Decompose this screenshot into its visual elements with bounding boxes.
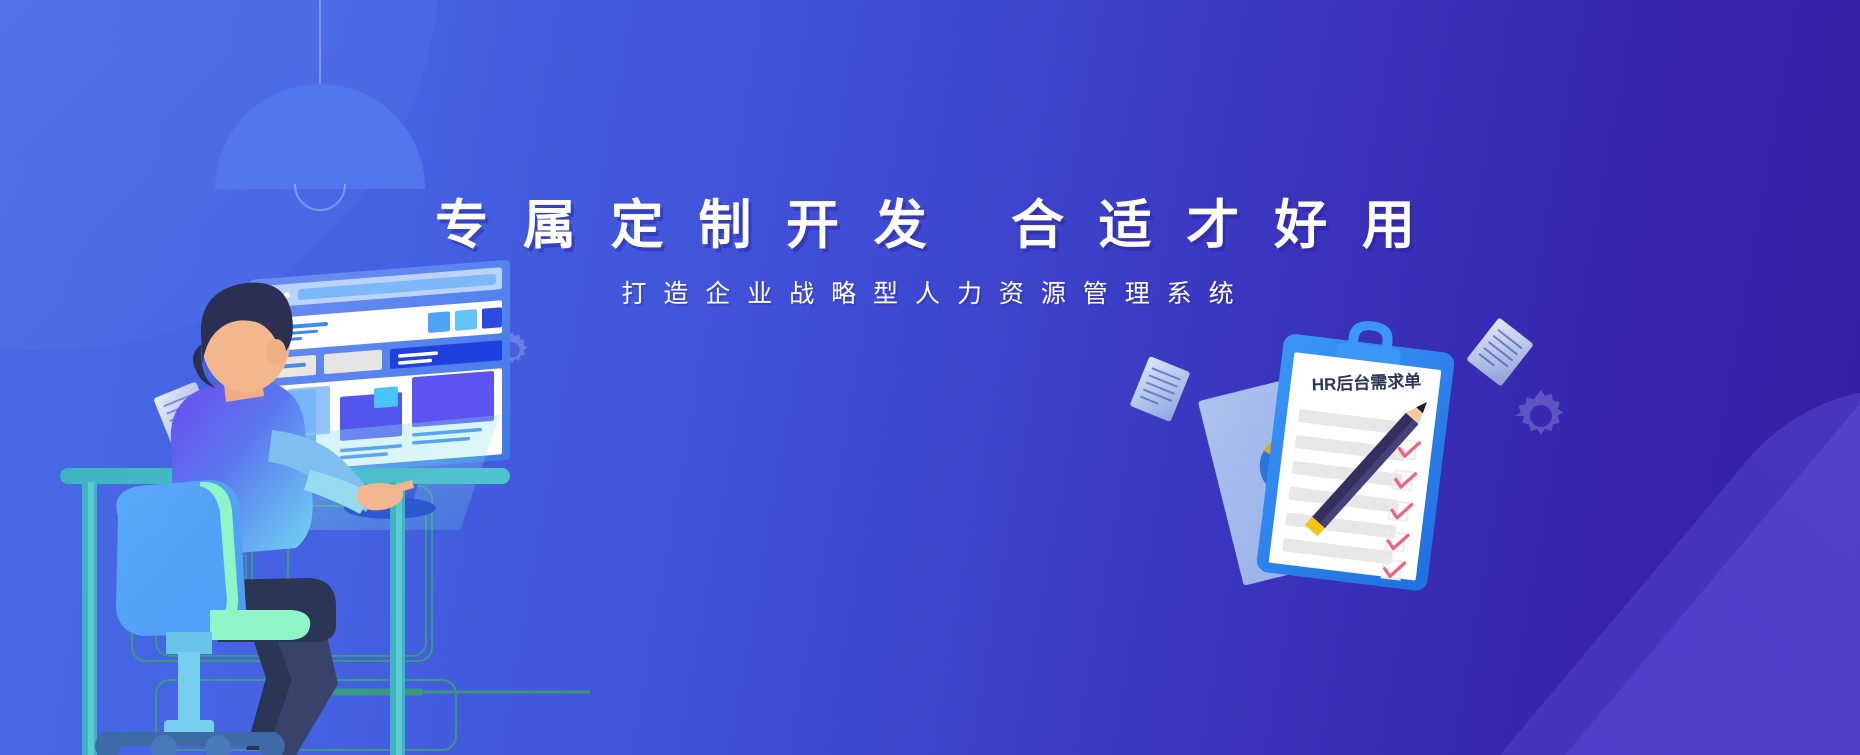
- hr-hero-banner: 专 属 定 制 开 发 合 适 才 好 用 打 造 企 业 战 略 型 人 力 …: [0, 0, 1860, 755]
- headline-block: 专 属 定 制 开 发 合 适 才 好 用 打 造 企 业 战 略 型 人 力 …: [0, 196, 1860, 310]
- browser-block-4: [374, 386, 398, 408]
- browser-tile-3: [482, 307, 502, 329]
- browser-tile-1: [428, 311, 450, 333]
- lamp-cord: [319, 0, 321, 86]
- lamp-shade: [215, 84, 425, 189]
- person-ear: [266, 339, 286, 365]
- browser-tile-2: [455, 309, 477, 331]
- clipboard-title: HR后台需求单: [1311, 371, 1421, 395]
- page-subtitle: 打 造 企 业 战 略 型 人 力 资 源 管 理 系 统: [0, 274, 1860, 310]
- chair-column: [178, 652, 200, 724]
- chair-seat-trim: [210, 610, 310, 640]
- page-title: 专 属 定 制 开 发 合 适 才 好 用: [0, 196, 1860, 257]
- illustration-person-at-desk: [60, 280, 700, 755]
- chair-base: [95, 732, 285, 755]
- illustration-hr-clipboard: HR后台需求单: [1180, 325, 1530, 615]
- clipboard: HR后台需求单: [1256, 311, 1459, 592]
- chair-column-top: [166, 632, 212, 654]
